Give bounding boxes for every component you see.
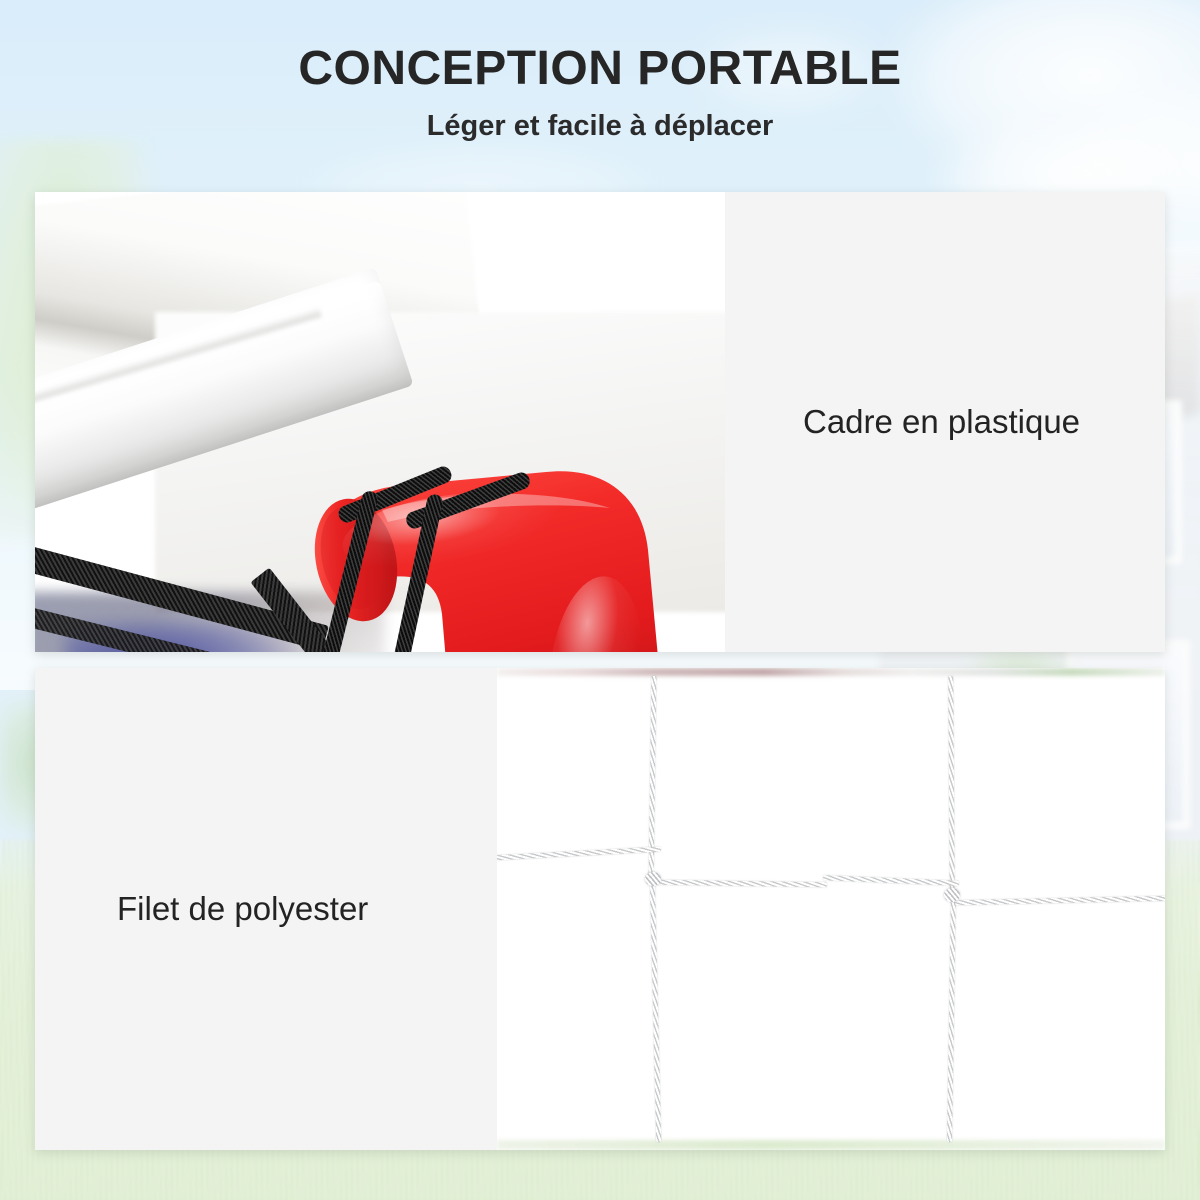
- infographic-poster: CONCEPTION PORTABLE Léger et facile à dé…: [0, 0, 1200, 1200]
- feature-panel-frame: Cadre en plastique: [35, 192, 1165, 652]
- frame-elbow-photo: [35, 192, 725, 652]
- frame-label-cell: Cadre en plastique: [725, 192, 1165, 652]
- heading-block: CONCEPTION PORTABLE Léger et facile à dé…: [0, 44, 1200, 143]
- page-title: CONCEPTION PORTABLE: [0, 44, 1200, 95]
- net-strand-horizontal: [955, 896, 1165, 906]
- net-knot: [944, 888, 960, 902]
- polyester-net-photo: [497, 668, 1165, 1150]
- page-subtitle: Léger et facile à déplacer: [0, 111, 1200, 143]
- net-strand-vertical: [948, 676, 955, 894]
- net-label-cell: Filet de polyester: [35, 668, 497, 1150]
- net-strand-vertical: [650, 876, 661, 1142]
- frame-label-text: Cadre en plastique: [725, 401, 1080, 442]
- net-strand-vertical: [947, 890, 956, 1142]
- net-label-text: Filet de polyester: [35, 888, 368, 929]
- photo-backdrop-grass: [497, 1140, 1165, 1150]
- net-strand-horizontal: [497, 847, 661, 861]
- net-strand-horizontal: [823, 875, 959, 886]
- net-knot: [645, 872, 661, 886]
- net-strand-horizontal: [657, 880, 827, 888]
- feature-panel-net: Filet de polyester: [35, 668, 1165, 1150]
- photo-backdrop-strip: [497, 668, 1165, 676]
